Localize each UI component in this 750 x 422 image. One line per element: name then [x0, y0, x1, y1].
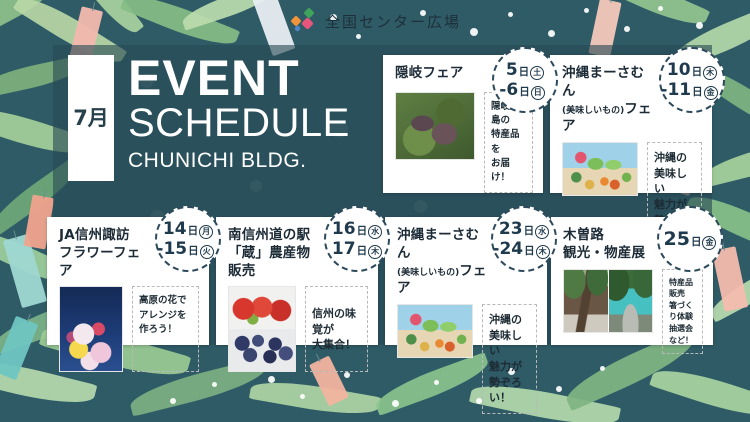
- brand-header: 全国センター広場: [289, 9, 461, 33]
- weekday-badge: 金: [704, 86, 718, 100]
- weekday-badge: 日: [531, 86, 545, 100]
- weekday-badge: 月: [199, 225, 213, 239]
- event-date-badge: 5日土 -6日日: [492, 47, 558, 113]
- event-photo: [563, 269, 653, 333]
- event-title-sub: (美味しいもの): [562, 106, 624, 116]
- date-number: 5: [506, 60, 518, 80]
- event-title-main: 隠岐フェア: [395, 65, 464, 81]
- event-date-badge: 14日月 -15日火: [155, 206, 221, 272]
- title-event: EVENT: [128, 55, 350, 103]
- event-note: 高原の花で アレンジを 作ろう！: [132, 286, 199, 372]
- event-date-badge: 25日金: [657, 206, 723, 272]
- date-number: 10: [667, 60, 691, 80]
- date-number: 11: [667, 80, 691, 100]
- weekday-badge: 水: [368, 225, 382, 239]
- title-schedule: SCHEDULE: [128, 103, 350, 145]
- title-building: CHUNICHI BLDG.: [128, 146, 350, 175]
- poster-title: 7月 EVENT SCHEDULE CHUNICHI BLDG.: [68, 55, 350, 181]
- event-title-tail: 観光・物産展: [563, 245, 645, 261]
- event-schedule-poster: 全国センター広場 7月 EVENT SCHEDULE CHUNICHI BLDG…: [0, 0, 750, 422]
- event-note: 沖縄の 美味しい 魅力が 勢ぞろい！: [482, 304, 537, 414]
- event-date-badge: 23日水 -24日木: [491, 206, 557, 272]
- weekday-badge: 木: [368, 245, 382, 259]
- event-photo: [562, 142, 638, 196]
- date-number: 16: [332, 219, 356, 239]
- date-number: -: [499, 80, 506, 100]
- event-photo: [228, 286, 296, 372]
- date-number: 15: [163, 239, 187, 259]
- event-note: 信州の味覚が 大集合！: [305, 286, 368, 372]
- event-title-tail: 「蔵」農産物販売: [228, 245, 310, 279]
- brand-label: 全国センター広場: [325, 11, 461, 32]
- event-date-badge: 10日木 -11日金: [659, 47, 725, 113]
- weekday-badge: 水: [535, 225, 549, 239]
- event-photo: [59, 286, 123, 372]
- weekday-badge: 木: [703, 66, 717, 80]
- date-number: 17: [332, 239, 356, 259]
- event-date-badge: 16日水 17日木: [324, 206, 390, 272]
- event-title-sub: (美味しいもの): [397, 268, 459, 278]
- event-photo: [397, 304, 473, 358]
- event-title-main: JA信州諏訪: [59, 227, 130, 243]
- event-title-main: 木曽路: [563, 227, 604, 243]
- date-number: 24: [499, 239, 523, 259]
- sparkle-icon: [289, 9, 319, 33]
- date-number: 14: [163, 219, 187, 239]
- event-title-main: 沖縄まーさむん: [562, 65, 644, 99]
- event-note: 特産品販売 箸づくり体験 抽選会など！: [662, 269, 703, 355]
- event-photo: [395, 92, 475, 160]
- date-number: 23: [499, 219, 523, 239]
- event-title-main: 南信州道の駅: [228, 227, 310, 243]
- date-number: 25: [664, 228, 690, 250]
- weekday-badge: 木: [536, 245, 550, 259]
- weekday-badge: 土: [530, 66, 544, 80]
- weekday-badge: 火: [200, 245, 214, 259]
- event-title-tail: フラワーフェア: [59, 245, 140, 279]
- weekday-badge: 金: [702, 236, 716, 250]
- event-title-main: 沖縄まーさむん: [397, 227, 479, 261]
- month-badge: 7月: [68, 55, 114, 181]
